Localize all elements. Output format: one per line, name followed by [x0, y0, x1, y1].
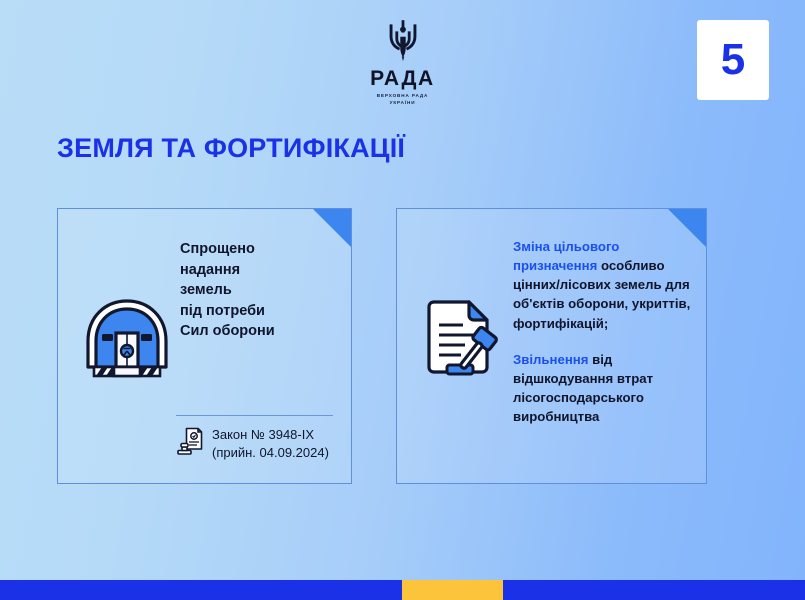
rada-subtitle: ВЕРХОВНА РАДАУКРАЇНИ: [377, 93, 428, 107]
divider: [176, 415, 333, 416]
rada-wordmark: РАДА: [370, 68, 435, 89]
bar-segment-blue-left: [0, 580, 402, 600]
page-title: ЗЕМЛЯ ТА ФОРТИФІКАЦІЇ: [57, 134, 405, 164]
forest-paragraph-2: Звільнення від відшкодування втрат лісог…: [513, 350, 706, 427]
ukraine-trident-icon: [383, 18, 423, 66]
bottom-flag-bar: [0, 580, 805, 600]
rada-logo: РАДА ВЕРХОВНА РАДАУКРАЇНИ: [0, 18, 805, 107]
slide-number-text: 5: [721, 38, 745, 82]
law-reference-row: Закон № 3948-IX(прийн. 04.09.2024): [176, 426, 333, 461]
bar-segment-blue-right: [503, 580, 805, 600]
document-stamp-icon: [176, 426, 204, 461]
forest-para-2-accent: Звільнення: [513, 352, 588, 367]
law-reference-text: Закон № 3948-IX(прийн. 04.09.2024): [212, 426, 329, 461]
bunker-shelter-icon: [80, 293, 174, 388]
card-forest-land-use: Зміна цільового призначення особливо цін…: [396, 208, 707, 484]
slide-number-badge: 5: [697, 20, 769, 100]
card-land-footer: Закон № 3948-IX(прийн. 04.09.2024): [176, 415, 333, 461]
card-land-heading: Спрощенонаданняземельпід потребиСил обор…: [174, 239, 351, 342]
card-forest-text: Зміна цільового призначення особливо цін…: [509, 209, 706, 426]
slide-canvas: РАДА ВЕРХОВНА РАДАУКРАЇНИ 5 ЗЕМЛЯ ТА ФОР…: [0, 0, 805, 600]
forest-paragraph-1: Зміна цільового призначення особливо цін…: [513, 237, 706, 333]
bar-segment-yellow: [402, 580, 503, 600]
document-gavel-icon: [421, 297, 509, 388]
card-land-allocation: Спрощенонаданняземельпід потребиСил обор…: [57, 208, 352, 484]
